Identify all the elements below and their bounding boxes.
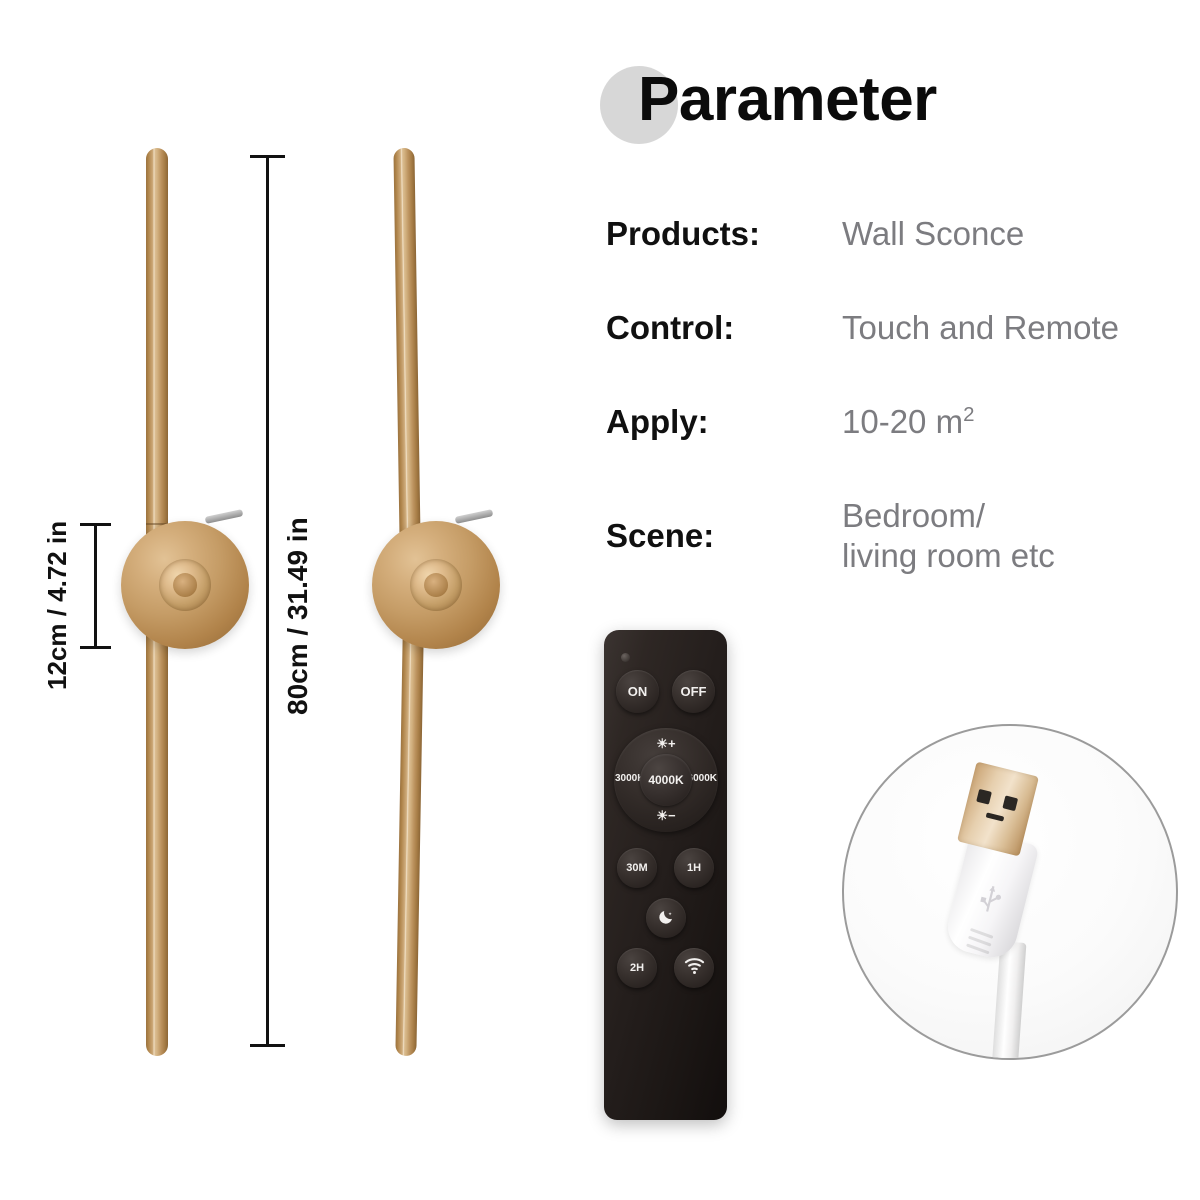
remote-temp-4000k-button[interactable]: 4000K bbox=[640, 754, 692, 806]
usb-cable bbox=[992, 941, 1027, 1060]
remote-button-signal[interactable] bbox=[674, 948, 714, 988]
remote-button-1h[interactable]: 1H bbox=[674, 848, 714, 888]
param-row-control: Control: Touch and Remote bbox=[606, 308, 1119, 348]
remote-button-2h[interactable]: 2H bbox=[617, 948, 657, 988]
usb-trident-icon bbox=[971, 879, 1007, 928]
remote-button-label: 1H bbox=[687, 862, 701, 874]
remote-button-on[interactable]: ON bbox=[616, 670, 659, 713]
param-value-line-2: living room etc bbox=[842, 536, 1055, 576]
remote-control-ring[interactable]: ☀+ 3000K 6000K ☀− 4000K bbox=[614, 728, 718, 832]
dimension-cap-top bbox=[80, 523, 111, 526]
remote-button-label: 2H bbox=[630, 962, 644, 974]
param-value-line-1: Bedroom/ bbox=[842, 496, 1055, 536]
remote-button-off[interactable]: OFF bbox=[672, 670, 715, 713]
remote-button-label: 4000K bbox=[648, 773, 683, 787]
usb-contact-slot bbox=[976, 789, 992, 805]
dimension-cap-bottom bbox=[80, 646, 111, 649]
wall-mount-plate-right bbox=[372, 521, 500, 649]
remote-button-night-mode[interactable] bbox=[646, 898, 686, 938]
dimension-label-height: 80cm / 31.49 in bbox=[282, 517, 314, 715]
product-infographic: 12cm / 4.72 in 80cm / 31.49 in Parameter… bbox=[0, 0, 1200, 1200]
mount-bracket-right bbox=[455, 509, 494, 524]
param-value: Bedroom/ living room etc bbox=[842, 496, 1055, 577]
panel-title-text: Parameter bbox=[638, 64, 937, 135]
param-value: Wall Sconce bbox=[842, 214, 1024, 254]
remote-button-label: 30M bbox=[626, 862, 647, 874]
dimension-label-base: 12cm / 4.72 in bbox=[42, 521, 73, 690]
dimension-line-height bbox=[266, 155, 269, 1047]
remote-control: ON OFF ☀+ 3000K 6000K ☀− 4000K 30M 1H bbox=[604, 630, 727, 1120]
param-label: Scene: bbox=[606, 517, 842, 555]
param-label: Products: bbox=[606, 215, 842, 253]
panel-title: Parameter bbox=[596, 56, 1200, 160]
param-value-superscript: 2 bbox=[963, 403, 974, 426]
param-label: Apply: bbox=[606, 403, 842, 441]
usb-contact-slot bbox=[1002, 795, 1018, 811]
rod-highlight bbox=[401, 148, 409, 568]
dimension-cap-top bbox=[250, 155, 285, 158]
dimension-cap-bottom bbox=[250, 1044, 285, 1047]
param-value: Touch and Remote bbox=[842, 308, 1119, 348]
mount-hub bbox=[410, 559, 462, 611]
remote-brightness-down-label[interactable]: ☀− bbox=[614, 808, 718, 824]
moon-icon bbox=[657, 908, 675, 929]
param-row-apply: Apply: 10-20 m2 bbox=[606, 402, 974, 442]
remote-brightness-up-label[interactable]: ☀+ bbox=[614, 736, 718, 752]
usb-connector-closeup bbox=[842, 724, 1178, 1060]
remote-button-30m[interactable]: 30M bbox=[617, 848, 657, 888]
usb-contact-bar bbox=[986, 812, 1005, 821]
param-label: Control: bbox=[606, 309, 842, 347]
signal-icon bbox=[684, 957, 705, 979]
dimension-line-base bbox=[94, 523, 97, 649]
param-value: 10-20 m2 bbox=[842, 402, 974, 442]
mount-hub bbox=[159, 559, 211, 611]
lamp-rod-right-upper bbox=[393, 148, 421, 568]
param-row-products: Products: Wall Sconce bbox=[606, 214, 1024, 254]
param-value-text: 10-20 m bbox=[842, 403, 963, 440]
remote-button-label: OFF bbox=[681, 684, 707, 699]
lamp-diagram: 12cm / 4.72 in 80cm / 31.49 in bbox=[0, 0, 560, 1200]
parameter-panel: Parameter Products: Wall Sconce Control:… bbox=[596, 56, 1200, 160]
param-row-scene: Scene: Bedroom/ living room etc bbox=[606, 496, 1055, 577]
mount-bracket-left bbox=[205, 509, 244, 524]
wall-mount-plate-left bbox=[121, 521, 249, 649]
ir-led-icon bbox=[621, 653, 630, 662]
remote-button-label: ON bbox=[628, 684, 648, 699]
